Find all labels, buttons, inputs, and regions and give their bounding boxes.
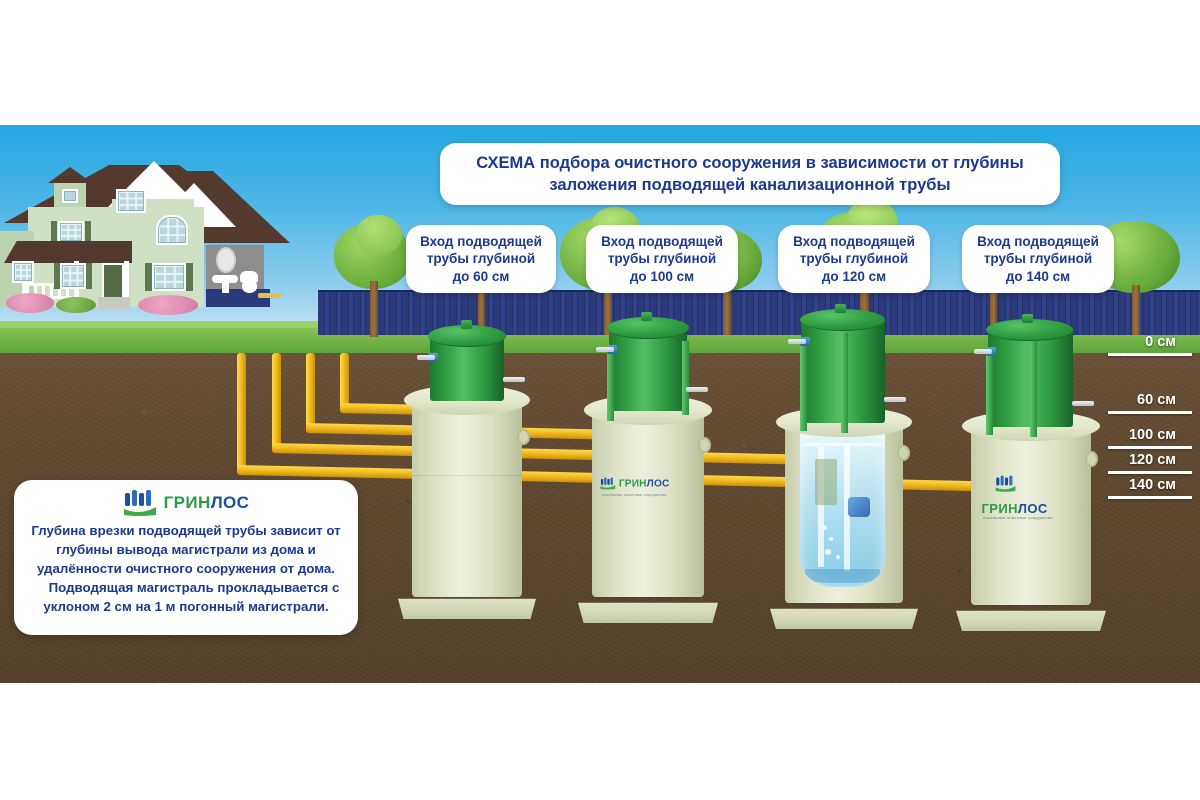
callout-140-line1: Вход подводящей [977, 233, 1099, 250]
house-shrub-3 [138, 295, 198, 315]
house-shutter-3 [54, 263, 60, 289]
tank-4-logo [995, 475, 1016, 492]
tank-4-logo-green: ГРИН [982, 501, 1018, 516]
house-shutter-2 [85, 221, 91, 243]
tank-2-inlet-nozzle [596, 347, 614, 352]
tank-2-logo-blue: ЛОС [647, 477, 670, 489]
bathroom-sink-pedestal [222, 281, 229, 293]
info-card-paragraph-1: Глубина врезки подводящей трубы зависит … [26, 522, 346, 579]
tank-1-lifting-lug [517, 429, 530, 445]
house-window-lower-2 [60, 263, 86, 289]
tank-4-fin-left [986, 347, 993, 435]
callout-120-line3: до 120 см [793, 268, 915, 285]
callout-120: Вход подводящей трубы глубиной до 120 см [778, 225, 930, 293]
tank-1-body [412, 401, 522, 597]
depth-line-0 [1108, 353, 1192, 356]
tank-3-bubble-2 [829, 537, 833, 541]
callout-60: Вход подводящей трубы глубиной до 60 см [406, 225, 556, 293]
tank-4-logo-tagline: локальные очистные сооружения [983, 515, 1053, 520]
tank-2-riser [609, 327, 687, 411]
callout-120-line1: Вход подводящей [793, 233, 915, 250]
tank-1-inlet-nozzle [417, 355, 435, 360]
house-shutter-5 [145, 263, 152, 291]
depth-label-0: 0 см [1145, 334, 1176, 350]
depth-line-100 [1108, 446, 1192, 449]
tank-4-base [956, 605, 1106, 631]
depth-line-140 [1108, 496, 1192, 499]
depth-scale: 0 см 60 см 100 см 120 см 140 см [1108, 125, 1200, 683]
depth-line-120 [1108, 471, 1192, 474]
tank-3-lifting-lug [897, 445, 910, 461]
logo-text-green: ГРИН [164, 493, 211, 512]
pipe-vertical-4 [340, 353, 349, 409]
tank-2-lifting-lug [698, 437, 711, 453]
bathroom-mirror-icon [216, 247, 236, 273]
tank-3-waterline [803, 443, 882, 446]
tank-3-base [770, 603, 918, 629]
tank-4-inlet-nozzle [974, 349, 992, 354]
callout-100-line1: Вход подводящей [601, 233, 723, 250]
tank-2-fin-right [682, 341, 689, 415]
tank-2-logo-green: ГРИН [619, 477, 647, 489]
callout-140-line3: до 140 см [977, 268, 1099, 285]
logo-text-blue: ЛОС [211, 493, 250, 512]
depth-label-100: 100 см [1129, 427, 1176, 443]
house-shutter-6 [186, 263, 193, 291]
tank-2-outlet-nozzle [686, 387, 708, 392]
house-front-steps [98, 297, 130, 309]
tank-1-outlet-nozzle [503, 377, 525, 382]
house-shrub-2 [56, 297, 96, 313]
tank-1 [398, 319, 536, 619]
house-shutter-4 [86, 263, 92, 289]
house-window-upper-2 [156, 215, 188, 245]
tank-4-fin-mid [1030, 341, 1037, 437]
tank-1-seam [412, 475, 522, 476]
house-porch-roof [4, 241, 132, 263]
tank-4-logo-blue: ЛОС [1018, 501, 1048, 516]
tank-2-logo: ГРИНЛОС [600, 477, 670, 490]
bathroom-toilet-bowl [242, 281, 257, 293]
house-window-lower-1 [12, 261, 34, 283]
pipe-vertical-3 [306, 353, 315, 429]
depth-label-60: 60 см [1137, 392, 1176, 408]
callout-60-line3: до 60 см [420, 268, 542, 285]
tank-2: ГРИНЛОС локальные очистные сооружения [578, 311, 718, 623]
house-shrub-1 [6, 293, 54, 313]
tank-3 [770, 303, 918, 629]
tank-2-base [578, 597, 718, 623]
tank-2-logo-tagline: локальные очистные сооружения [602, 493, 667, 497]
info-card-paragraph-2: Подводящая магистраль прокладывается с у… [26, 579, 346, 617]
tank-3-airlift-pump [848, 497, 870, 517]
callout-60-line1: Вход подводящей [420, 233, 542, 250]
bathroom-outlet-pipe [258, 293, 282, 298]
house-shutter-1 [51, 221, 57, 243]
callout-100: Вход подводящей трубы глубиной до 100 см [586, 225, 738, 293]
depth-line-60 [1108, 411, 1192, 414]
callout-140: Вход подводящей трубы глубиной до 140 см [962, 225, 1114, 293]
info-card: ГРИНЛОС Глубина врезки подводящей трубы … [14, 480, 358, 635]
tank-3-vent-knob [835, 304, 846, 313]
callout-100-line2: трубы глубиной [601, 250, 723, 267]
tank-1-vent-knob [461, 320, 472, 329]
house-illustration [0, 137, 320, 365]
tank-2-logo-mark [600, 477, 616, 490]
house-window-upper-3 [58, 221, 84, 243]
tank-3-bubble-1 [822, 525, 827, 530]
tank-2-vent-knob [641, 312, 652, 321]
tank-3-fin-left [800, 339, 807, 431]
tank-4-lifting-lug [1085, 451, 1098, 467]
tank-3-bubble-4 [836, 555, 840, 559]
tank-4-logo-text: ГРИНЛОС [982, 501, 1048, 516]
illustration-scene: ГРИНЛОС локальные очистные сооружения [0, 125, 1200, 683]
house-window-upper-1 [116, 189, 146, 213]
page-title: СХЕМА подбора очистного сооружения в зав… [440, 143, 1060, 205]
tank-2-fin-left [607, 345, 614, 421]
tank-3-inlet-nozzle [788, 339, 806, 344]
infographic-page: ГРИНЛОС локальные очистные сооружения [0, 0, 1200, 800]
callout-140-line2: трубы глубиной [977, 250, 1099, 267]
info-card-logo: ГРИНЛОС [26, 489, 346, 517]
tank-3-fin-mid [841, 333, 848, 433]
greenlos-logo-icon [123, 489, 157, 517]
tank-3-filter-media [815, 459, 837, 505]
pipe-vertical-2 [272, 353, 281, 449]
tank-4: ГРИНЛОС локальные очистные сооружения [956, 313, 1106, 631]
callout-120-line2: трубы глубиной [793, 250, 915, 267]
tank-4-outlet-nozzle [1072, 401, 1094, 406]
tank-3-outlet-nozzle [884, 397, 906, 402]
tank-3-cutaway-water [800, 429, 886, 587]
tank-2-logo-text: ГРИНЛОС [619, 477, 670, 489]
pipe-vertical-1 [237, 353, 246, 471]
house-window-lower-3 [152, 263, 186, 291]
house-dormer-roof [48, 167, 92, 183]
callout-60-line2: трубы глубиной [420, 250, 542, 267]
depth-label-120: 120 см [1129, 452, 1176, 468]
tank-4-vent-knob [1022, 314, 1033, 323]
callout-100-line3: до 100 см [601, 268, 723, 285]
depth-label-140: 140 см [1129, 477, 1176, 493]
info-card-logo-text: ГРИНЛОС [164, 493, 250, 513]
house-dormer-window [62, 189, 78, 203]
tank-4-logo-mark [995, 475, 1016, 492]
bathroom-floor [206, 289, 270, 307]
tank-3-sediment [805, 569, 881, 583]
tank-3-bubble-3 [825, 549, 831, 555]
tank-2-body [592, 411, 704, 597]
